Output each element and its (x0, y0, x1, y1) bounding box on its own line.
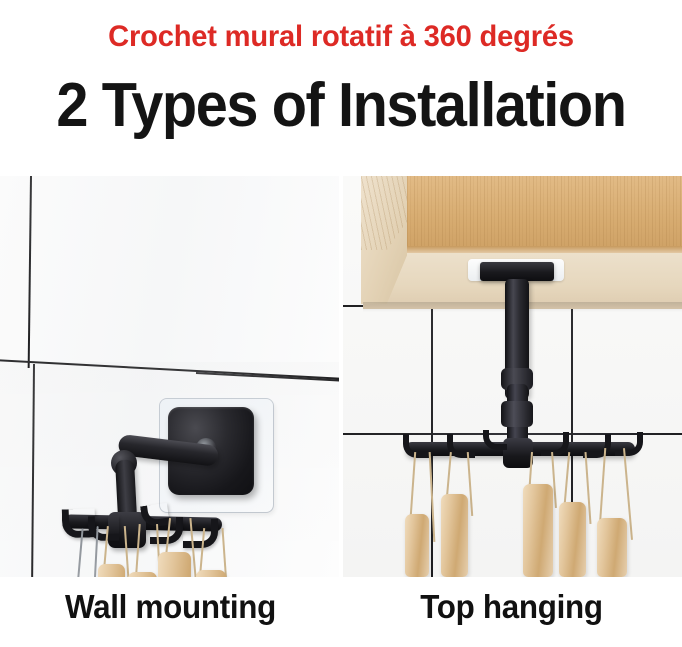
wooden-handle-utensil (597, 518, 627, 577)
hook-icon (583, 434, 605, 452)
hook-icon (483, 430, 501, 444)
wooden-handle-utensil (405, 514, 429, 577)
headline-text: Crochet mural rotatif à 360 degrés (10, 20, 672, 54)
hook-icon (183, 519, 211, 541)
rotating-hub (503, 438, 533, 468)
wooden-handle-utensil (128, 572, 157, 577)
hook-icon (150, 517, 176, 537)
wooden-handle-utensil (559, 502, 586, 577)
wall-mounting-photo (0, 176, 339, 577)
hook-icon (541, 432, 563, 450)
caption-row: Wall mounting Top hanging (0, 588, 682, 638)
wooden-handle-utensil (158, 552, 191, 577)
hook-icon (403, 434, 425, 452)
cabinet-front-panel (365, 176, 682, 248)
wooden-handle-utensil (98, 564, 125, 577)
stem-collar (501, 401, 533, 427)
hook-icon (447, 434, 469, 452)
wooden-handle-utensil (523, 484, 553, 577)
hook-icon (62, 509, 89, 532)
page-title: 2 Types of Installation (24, 74, 658, 138)
product-infographic: Crochet mural rotatif à 360 degrés 2 Typ… (0, 0, 682, 647)
wooden-handle-utensil (441, 494, 468, 577)
caption-top-hanging: Top hanging (350, 588, 674, 626)
hook-icon (88, 516, 112, 534)
wooden-handle-utensil (196, 570, 226, 577)
hook-icon (615, 432, 637, 450)
photo-pair (0, 176, 682, 577)
top-hanging-photo (343, 176, 682, 577)
caption-wall-mounting: Wall mounting (9, 588, 333, 626)
